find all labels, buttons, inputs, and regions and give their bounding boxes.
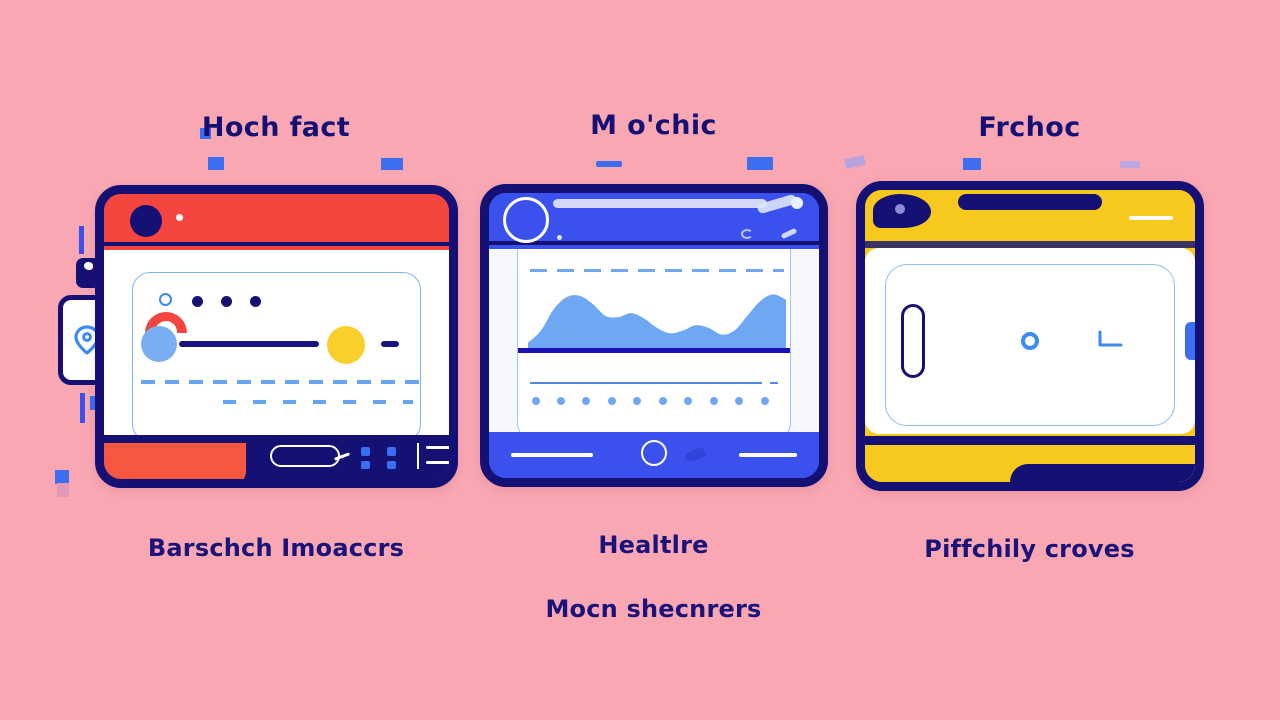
home-glare (683, 447, 705, 463)
chart-marker-row (532, 397, 776, 409)
glare-dot (791, 197, 803, 209)
card-column-1: Hoch fact (95, 0, 458, 562)
indicator-dot-active[interactable] (159, 293, 172, 306)
ring-icon[interactable] (1021, 332, 1039, 350)
chart-marker-dot (710, 397, 718, 405)
bottom-line-left (511, 453, 593, 457)
tablet-yellow-bottombar (865, 436, 1195, 482)
indicator-dot-1[interactable] (192, 296, 203, 307)
tablet-red-topbar (104, 194, 449, 246)
chart-panel (517, 249, 791, 441)
bottom-line-2 (426, 461, 450, 464)
card-3-caption: Piffchily croves (924, 535, 1134, 563)
bottom-line-right (739, 453, 797, 457)
bottom-line-1 (426, 446, 458, 449)
chart-marker-dot (608, 397, 616, 405)
camera-ring-icon (503, 197, 549, 243)
bottom-navy-edge (865, 436, 1195, 445)
placeholder-row-2 (223, 400, 413, 404)
bottom-divider (417, 443, 419, 469)
card-3-heading: Frchoc (978, 112, 1080, 143)
placeholder-row-1 (141, 380, 421, 384)
chart-underline-tail (770, 382, 778, 384)
card-column-2: M o'chic (480, 0, 828, 623)
card-column-3: Frchoc Piffc (856, 0, 1204, 563)
chart-marker-dot (582, 397, 590, 405)
card-2-heading: M o'chic (590, 110, 717, 141)
side-pill-icon[interactable] (901, 304, 925, 378)
tablet-red-screen[interactable] (104, 250, 449, 454)
area-chart (528, 281, 786, 348)
tablet-yellow-topbar (865, 190, 1195, 248)
grid-dot-3[interactable] (361, 461, 370, 469)
lens-dot-icon (895, 204, 905, 214)
card-1-heading: Hoch fact (202, 112, 350, 143)
cards-row: Hoch fact (0, 0, 1280, 720)
grid-dot-4[interactable] (387, 461, 396, 469)
home-indicator-blob (1010, 464, 1200, 491)
chart-marker-dot (633, 397, 641, 405)
chart-marker-dot (557, 397, 565, 405)
chart-marker-dot (659, 397, 667, 405)
chart-dashed-guide (530, 269, 784, 272)
sensor-dot-icon (557, 235, 562, 240)
glare-streak-2 (780, 228, 797, 239)
slider-handle-yellow[interactable] (327, 326, 365, 364)
tablet-yellow-screen[interactable] (865, 248, 1195, 434)
grid-dot-1[interactable] (361, 447, 370, 456)
glare-swirl (741, 229, 753, 239)
card-2-caption: Healtlre (598, 531, 708, 559)
chart-baseline (518, 348, 790, 353)
card-2-subcaption: Mocn shecnrers (545, 595, 761, 623)
camera-dot-icon (176, 214, 183, 221)
tablet-blue-bottombar (489, 432, 819, 478)
tablet-red-bottombar (104, 435, 449, 479)
tablet-blue[interactable] (480, 184, 828, 487)
tablet-blue-topbar (489, 193, 819, 245)
card-1-caption: Barschch Imoaccrs (148, 534, 404, 562)
slider-end-dash (381, 341, 399, 347)
camera-icon (130, 205, 162, 237)
slider-track[interactable] (179, 341, 319, 347)
search-pill-icon[interactable] (270, 445, 340, 467)
bottom-red-accent (100, 443, 246, 487)
chart-marker-dot (735, 397, 743, 405)
tablet-yellow[interactable] (856, 181, 1204, 491)
notch-icon (958, 194, 1102, 210)
tablet-red[interactable] (95, 185, 458, 488)
indicator-dot-3[interactable] (250, 296, 261, 307)
grid-dot-2[interactable] (387, 447, 396, 456)
chart-marker-dot (761, 397, 769, 405)
slider-handle-blue[interactable] (141, 326, 177, 362)
home-ring-icon[interactable] (641, 440, 667, 466)
topbar-shadow (865, 241, 1195, 248)
chart-marker-dot (684, 397, 692, 405)
indicator-dot-2[interactable] (221, 296, 232, 307)
tee-icon (1097, 329, 1123, 353)
side-tab-icon[interactable] (1185, 322, 1195, 360)
speaker-bar-icon (553, 199, 767, 208)
chart-underline (530, 382, 762, 384)
tablet-blue-screen[interactable] (489, 249, 819, 451)
content-panel (132, 272, 421, 442)
status-line-icon (1129, 216, 1173, 220)
chart-marker-dot (532, 397, 540, 405)
